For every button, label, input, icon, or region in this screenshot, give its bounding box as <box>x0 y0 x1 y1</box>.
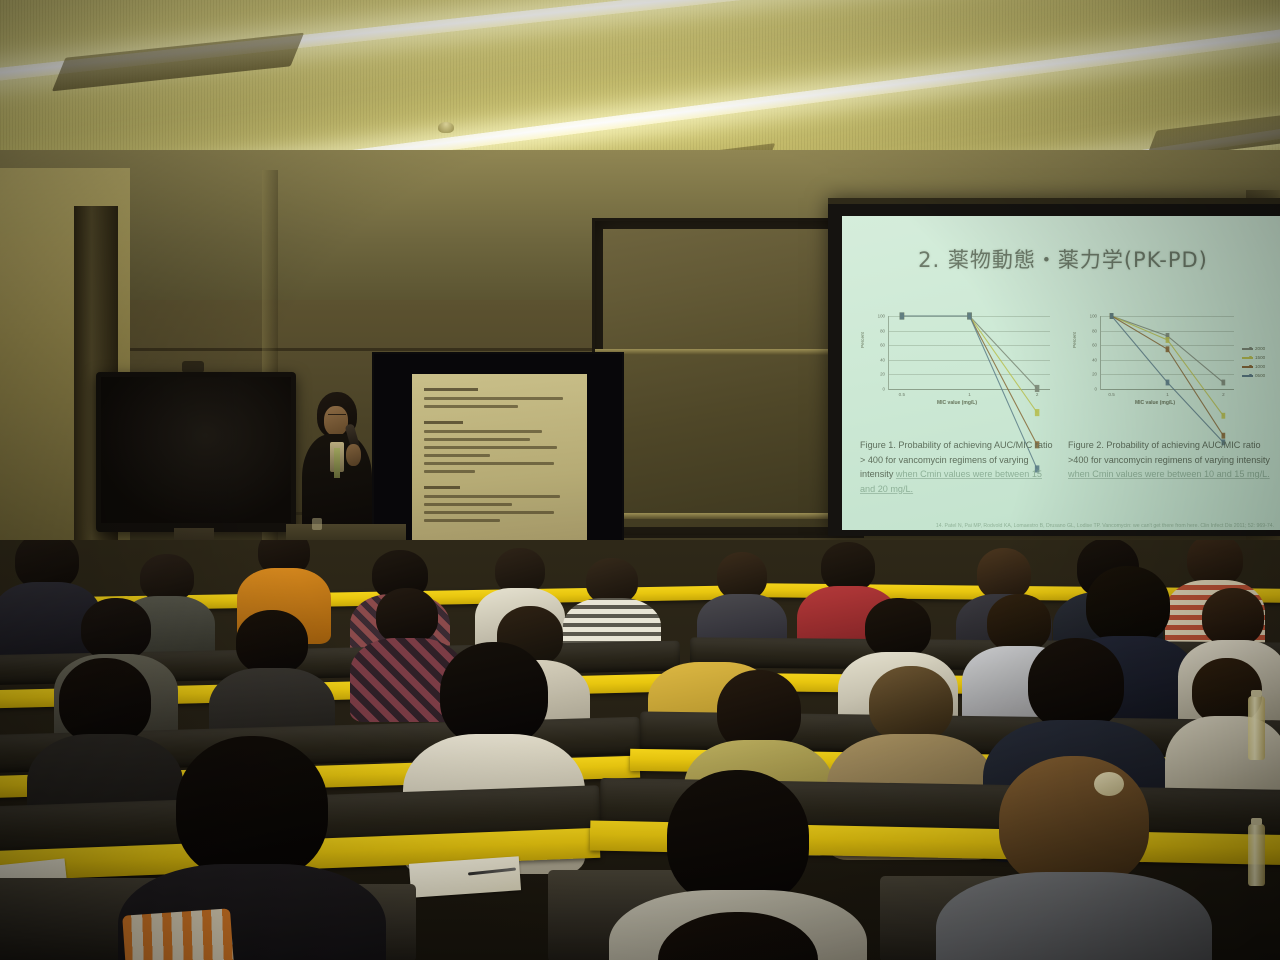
head <box>667 770 809 906</box>
flat-panel-monitor[interactable] <box>96 372 296 532</box>
orange-striped-bag <box>122 908 234 960</box>
doc-text-line <box>424 397 563 400</box>
bottle-cap <box>1251 818 1262 825</box>
chart2-series-lines <box>1101 316 1234 449</box>
doc-text-line <box>424 519 500 522</box>
audience-member <box>608 912 868 960</box>
chart2-ytick: 40 <box>1092 357 1097 362</box>
slide-citation: 14. Patel N, Pai MP, Rodvold KA, Lomaest… <box>932 522 1278 530</box>
head <box>440 642 548 746</box>
legend-marker-icon <box>1249 356 1252 359</box>
projection-screen: 2. 薬物動態・薬力学(PK-PD) Percent 100 80 60 40 … <box>828 198 1280 536</box>
projected-document-page <box>412 374 587 564</box>
head <box>1086 566 1170 644</box>
legend-label: 1000 <box>1255 362 1265 371</box>
document-projection <box>372 352 624 564</box>
head <box>977 548 1031 600</box>
series-marker <box>1166 380 1170 386</box>
series-marker <box>1035 385 1040 392</box>
doc-text-line <box>424 511 554 514</box>
audience-seating-area <box>0 540 1280 960</box>
doc-text-line <box>424 495 560 498</box>
head <box>717 552 767 600</box>
head <box>1028 638 1124 730</box>
head <box>869 666 953 742</box>
head <box>176 736 328 880</box>
lecture-hall-photo: 2. 薬物動態・薬力学(PK-PD) Percent 100 80 60 40 … <box>0 0 1280 960</box>
presenter-hand <box>346 444 361 466</box>
projected-slide: 2. 薬物動態・薬力学(PK-PD) Percent 100 80 60 40 … <box>842 216 1280 530</box>
chart2-x-axis-label: MIC value (mg/L) <box>1070 400 1240 406</box>
legend-marker-icon <box>1249 374 1252 377</box>
series-marker <box>900 312 905 319</box>
chart2-ytick: 0 <box>1095 387 1097 392</box>
chart1-plot-area: 100 80 60 40 20 0 0.5 1 2 <box>888 316 1050 390</box>
torso <box>936 872 1212 960</box>
legend-label: 2000 <box>1255 344 1265 353</box>
legend-marker-icon <box>1249 347 1252 350</box>
legend-item: 1000 <box>1242 362 1265 371</box>
presenter-face <box>324 406 348 436</box>
legend-item: 1500 <box>1242 353 1265 362</box>
blackboard-surface <box>603 229 853 527</box>
chart1-y-axis-label: Percent <box>860 332 865 348</box>
chart-figure-2: Percent 100 80 60 40 20 0 0.5 1 2 <box>1070 314 1240 410</box>
series-line <box>902 316 1037 413</box>
figure-2-caption-highlight: when Cmin values were between 10 and 15 … <box>1068 469 1270 479</box>
doc-text-line <box>424 470 475 473</box>
presenter-tie <box>334 448 340 478</box>
legend-label: 1500 <box>1255 353 1265 362</box>
doc-text-line <box>424 446 557 449</box>
doc-heading-line <box>424 486 460 489</box>
chalk-rail <box>595 349 861 355</box>
doc-text-line <box>424 503 512 506</box>
chart2-ytick: 80 <box>1092 328 1097 333</box>
water-bottle <box>1248 696 1265 760</box>
chart-legend: 2000150010000500 <box>1242 344 1265 380</box>
head <box>81 598 151 660</box>
figure-1-caption: Figure 1. Probability of achieving AUC/M… <box>860 438 1056 496</box>
chart2-y-axis-label: Percent <box>1072 332 1077 348</box>
bottle-cap <box>1251 690 1262 697</box>
head <box>658 912 818 960</box>
legend-item: 2000 <box>1242 344 1265 353</box>
doc-text-line <box>424 405 518 408</box>
head <box>236 610 308 674</box>
water-bottle <box>1248 824 1265 886</box>
presenter-glasses-icon <box>328 414 346 418</box>
legend-item: 0500 <box>1242 371 1265 380</box>
monitor-screen-off <box>101 377 291 523</box>
head <box>140 554 194 602</box>
doc-text-line <box>424 430 542 433</box>
head <box>821 542 875 592</box>
chart1-ytick: 60 <box>880 343 885 348</box>
figure-2-caption: Figure 2. Probability of achieving AUC/M… <box>1068 438 1280 482</box>
chalk-rail <box>595 513 861 519</box>
head <box>677 604 747 668</box>
chart1-ytick: 20 <box>880 372 885 377</box>
series-marker <box>967 312 972 319</box>
audience-member <box>940 756 1208 960</box>
doc-heading-line <box>424 388 478 391</box>
figure-2-caption-main: Figure 2. Probability of achieving AUC/M… <box>1068 440 1270 465</box>
ceiling-speaker-dome <box>438 122 454 133</box>
doc-text-line <box>424 462 554 465</box>
series-marker <box>1110 313 1114 319</box>
series-marker <box>1221 380 1225 386</box>
chart2-ytick: 100 <box>1090 314 1097 319</box>
legend-label: 0500 <box>1255 371 1265 380</box>
audience-member <box>212 610 332 740</box>
legend-marker-icon <box>1249 365 1252 368</box>
chart2-ytick: 60 <box>1092 343 1097 348</box>
head <box>999 756 1149 888</box>
slide-title: 2. 薬物動態・薬力学(PK-PD) <box>842 244 1280 274</box>
chart1-ytick: 40 <box>880 357 885 362</box>
chart1-ytick: 80 <box>880 328 885 333</box>
series-line <box>902 316 1037 388</box>
chart2-plot-area: 100 80 60 40 20 0 0.5 1 2 <box>1100 316 1234 390</box>
head <box>1202 588 1264 646</box>
chart-figure-1: Percent 100 80 60 40 20 0 0.5 1 2 <box>858 314 1056 410</box>
head <box>59 658 151 744</box>
chart1-ytick: 0 <box>883 387 885 392</box>
head <box>376 588 438 644</box>
series-line <box>902 316 1037 445</box>
chart2-ytick: 20 <box>1092 372 1097 377</box>
podium-items <box>312 518 322 530</box>
doc-heading-line <box>424 421 463 424</box>
hair-tie <box>1094 772 1124 796</box>
head <box>865 598 931 658</box>
series-marker <box>1166 337 1170 343</box>
series-marker <box>1221 413 1225 419</box>
series-marker <box>1166 346 1170 352</box>
chart1-ytick: 100 <box>878 314 885 319</box>
blackboard <box>592 218 864 538</box>
notebook-page <box>409 856 521 898</box>
doc-text-line <box>424 454 490 457</box>
series-marker <box>1035 409 1040 416</box>
chart1-x-axis-label: MIC value (mg/L) <box>858 400 1056 406</box>
doc-text-line <box>424 438 530 441</box>
